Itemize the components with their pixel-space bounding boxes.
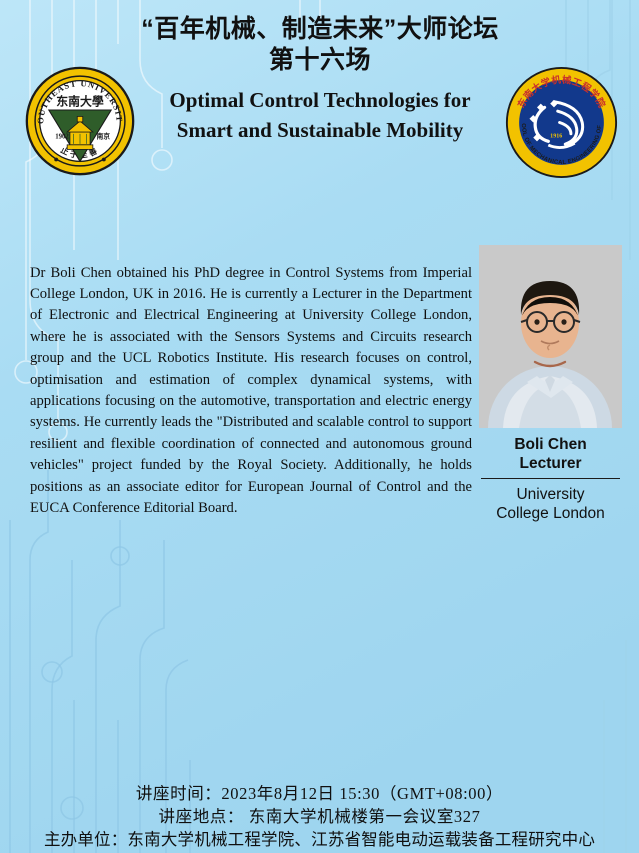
bio-paragraph: Dr Boli Chen obtained his PhD degree in …	[30, 263, 472, 520]
talk-venue-line: 讲座地点： 东南大学机械楼第一会议室327	[0, 805, 639, 828]
bio-section: Dr Boli Chen obtained his PhD degree in …	[0, 222, 639, 522]
talk-title-en-line2: Smart and Sustainable Mobility	[140, 115, 500, 145]
abstract-paragraph: Autonomous driving technology pledges sa…	[30, 570, 617, 784]
speaker-divider	[481, 478, 620, 479]
speaker-card: Boli Chen Lecturer University College Lo…	[479, 245, 622, 523]
speaker-name: Boli Chen	[479, 435, 622, 454]
speaker-role: Lecturer	[479, 454, 622, 473]
seal-year: 1902	[55, 133, 69, 140]
poster-canvas: SOUTHEAST UNIVERSITY 止于至善 东南大學 1902 南京	[0, 0, 639, 853]
organizer-line: 主办单位：东南大学机械工程学院、江苏省智能电动运载装备工程研究中心	[0, 828, 639, 851]
poster-header: SOUTHEAST UNIVERSITY 止于至善 东南大學 1902 南京	[0, 0, 639, 182]
forum-title-cn-line2: 第十六场	[140, 45, 500, 76]
school-of-mechanical-engineering-seal-icon: 东南大学机械工程学院 SCHOOL OF MECHANICAL ENGINEER…	[505, 66, 618, 179]
header-title-block: “百年机械、制造未来”大师论坛 第十六场 Optimal Control Tec…	[140, 14, 500, 145]
speaker-portrait-photo	[479, 245, 622, 428]
southeast-university-seal-icon: SOUTHEAST UNIVERSITY 止于至善 东南大學 1902 南京	[25, 66, 135, 176]
abstract-section-heading: 讲座摘要	[28, 530, 639, 566]
talk-time-line: 讲座时间：2023年8月12日 15:30（GMT+08:00）	[0, 782, 639, 805]
speaker-affiliation-line1: University	[479, 485, 622, 504]
talk-title-en-line1: Optimal Control Technologies for	[140, 85, 500, 115]
forum-title-cn-line1: “百年机械、制造未来”大师论坛	[140, 14, 500, 45]
speaker-affiliation-line2: College London	[479, 504, 622, 523]
seal-city-cn: 南京	[97, 131, 111, 140]
poster-footer: 讲座时间：2023年8月12日 15:30（GMT+08:00） 讲座地点： 东…	[0, 782, 639, 851]
seal-right-year: 1916	[550, 134, 562, 140]
bio-section-heading: 嘉宾介绍	[28, 182, 639, 218]
seal-name-cn: 东南大學	[56, 94, 104, 108]
